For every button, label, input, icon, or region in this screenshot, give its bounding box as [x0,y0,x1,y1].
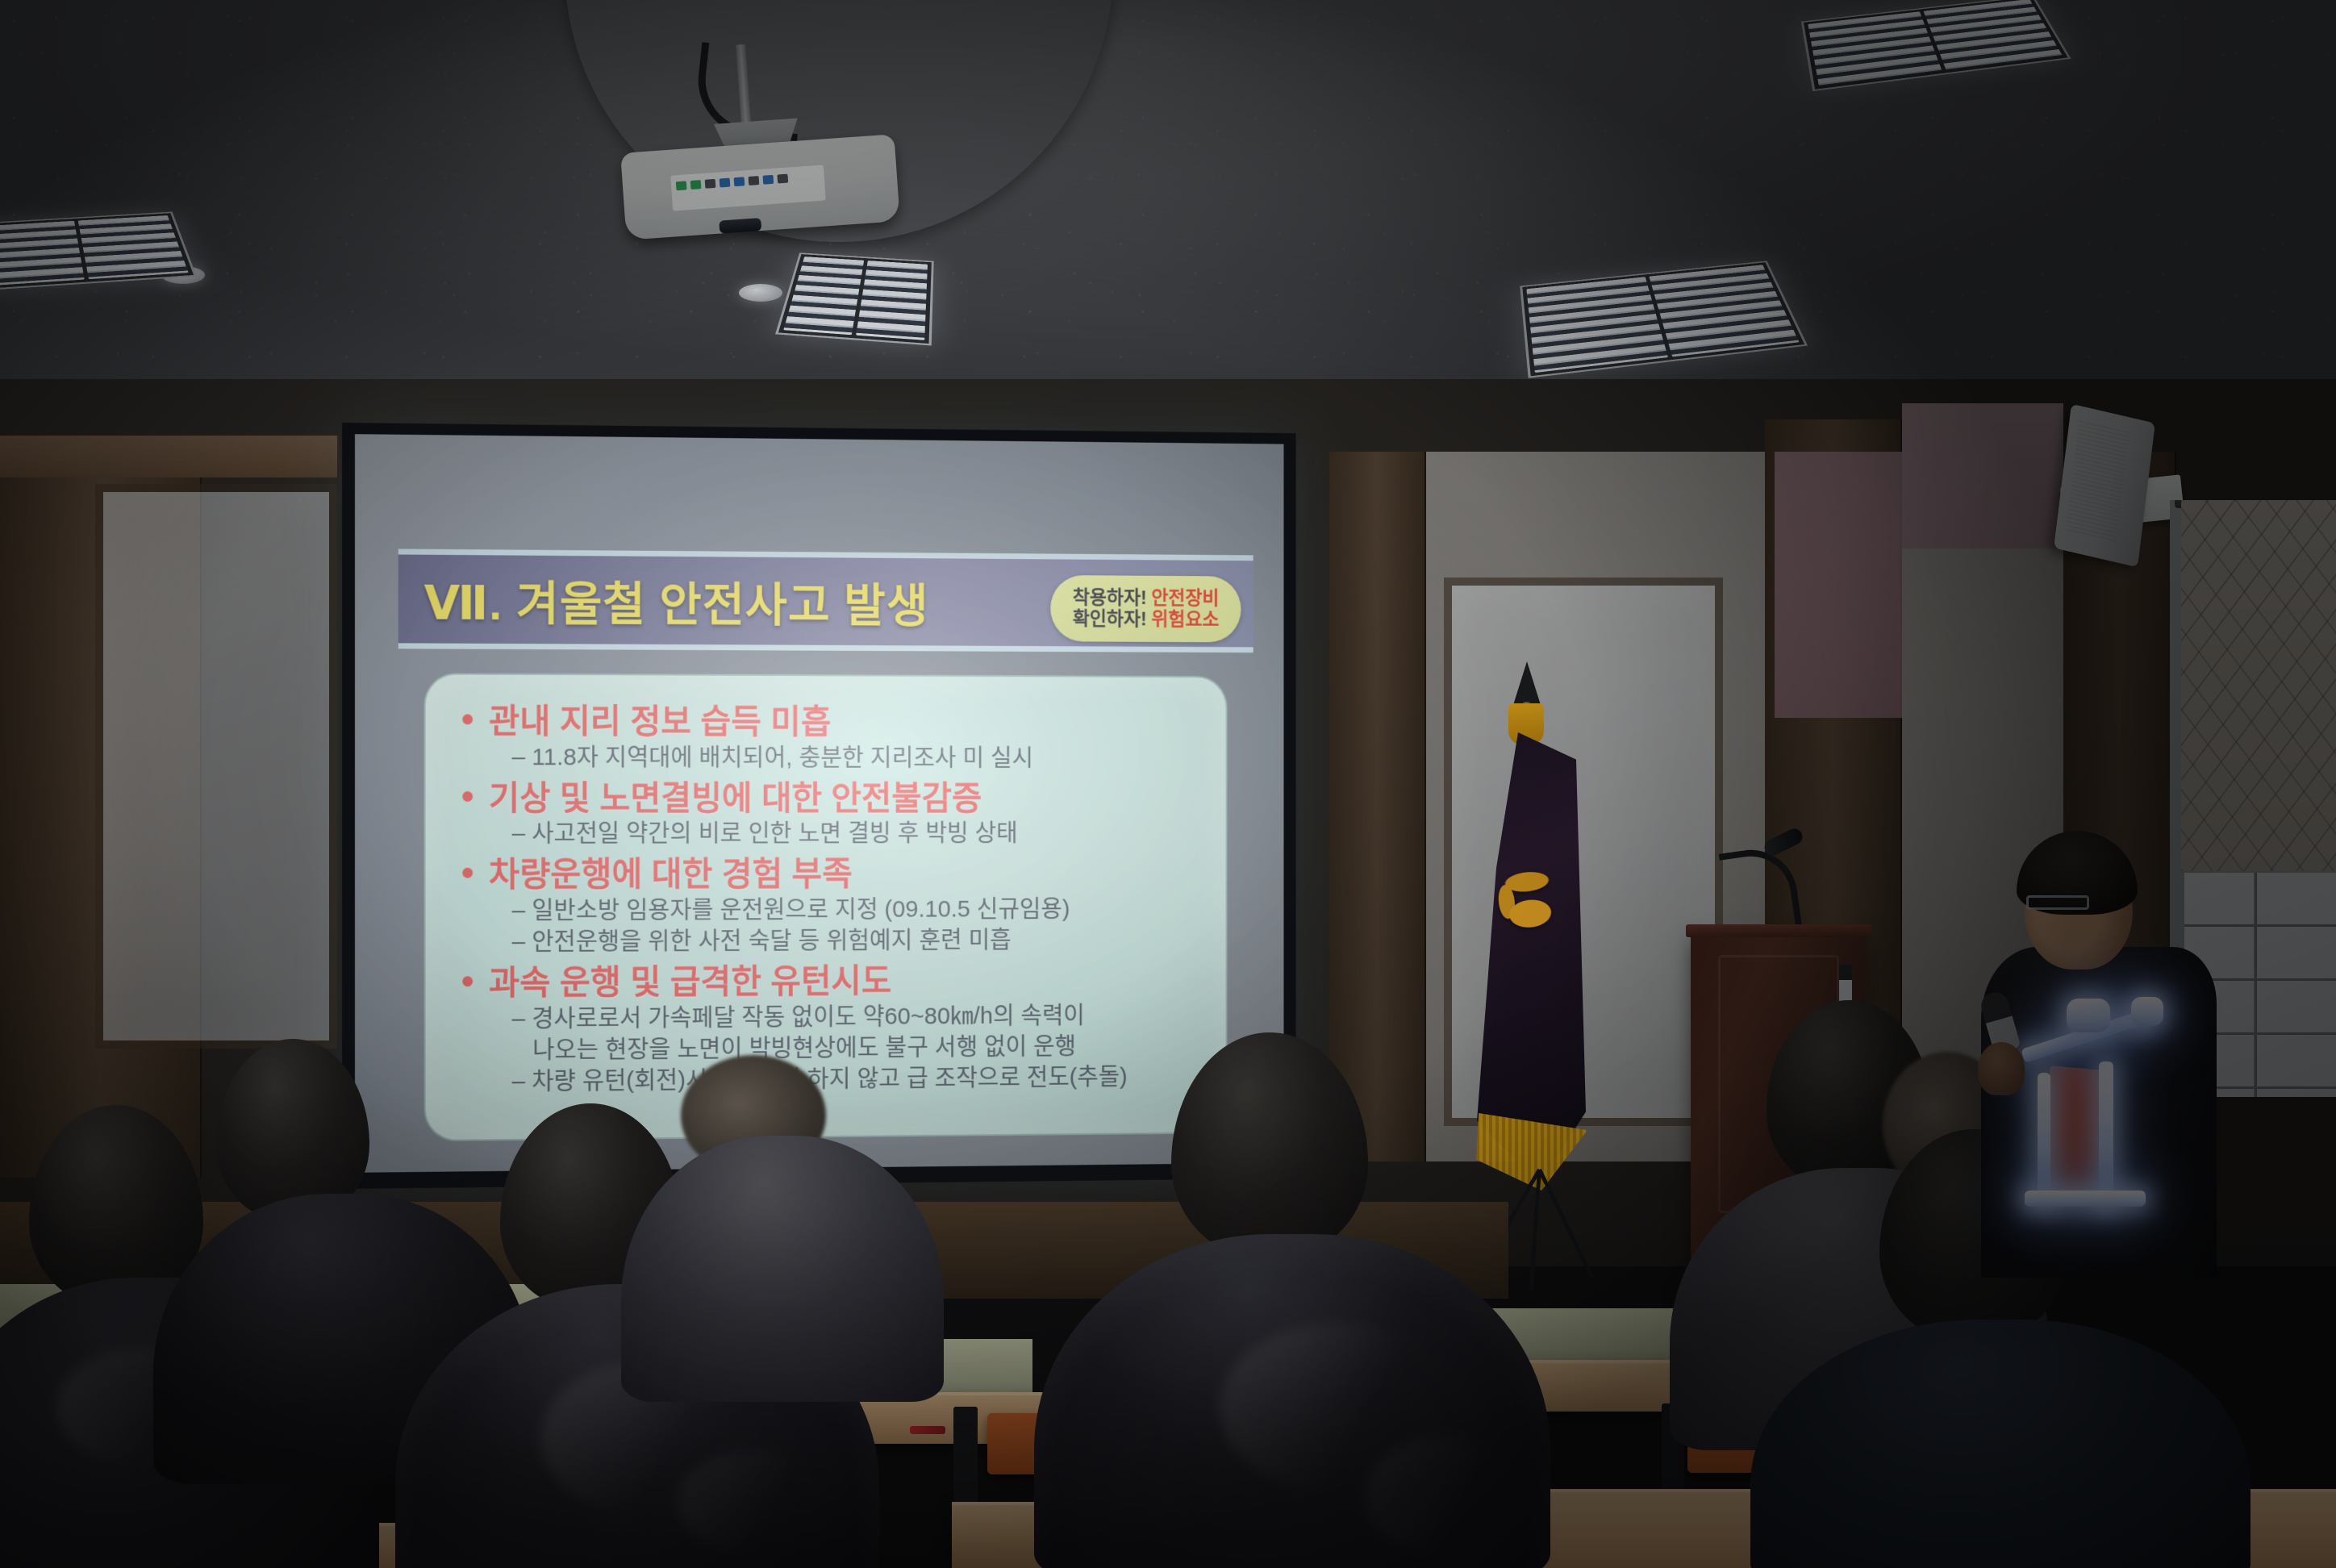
wall-accent-mauve [1775,452,1904,718]
safety-slogan-badge: 착용하자! 안전장비 확인하자! 위험요소 [1050,575,1241,642]
bullet-sub-text: – 사고전일 약간의 비로 인한 노면 결빙 후 박빙 상태 [512,818,1195,849]
bullet-dot-icon [462,976,473,986]
bullet-dot-icon [462,791,473,802]
presenter [1967,826,2233,1278]
slide-bullet: 기상 및 노면결빙에 대한 안전불감증 – 사고전일 약간의 비로 인한 노면 … [462,779,1195,849]
ceiling-mounted-projector [619,111,901,251]
audience-torso [621,1136,944,1402]
badge-line2-prefix: 확인하자! [1073,609,1147,629]
bullet-dot-icon [462,868,473,878]
badge-line1-prefix: 착용하자! [1073,588,1147,608]
reflective-stripe [2038,1073,2050,1203]
badge-line2-keyword: 위험요소 [1151,610,1219,630]
wall-accent-mauve-upper [1902,403,2063,548]
roller-blind[interactable] [2181,500,2336,871]
bullet-dot-icon [462,714,473,724]
ceiling-troffer-center [775,252,934,345]
bullet-sub-text: – 11.8자 지역대에 배치되어, 충분한 지리조사 미 실시 [512,741,1195,774]
flag-finial-icon [1513,661,1541,705]
presenter-hand [1978,1042,2025,1095]
coat-highlight [678,1450,831,1555]
reflective-patch [2131,997,2163,1026]
wall-speaker [2054,404,2155,568]
audience-head [1171,1032,1368,1258]
audience-member [613,1049,936,1412]
projector-lens [719,218,761,234]
reflective-patch [2067,999,2110,1032]
reflective-stripe [2099,1061,2113,1207]
audience-member [1018,1032,1534,1568]
badge-line1-keyword: 안전장비 [1151,588,1219,608]
bullet-sub-text: – 경사로로서 가속페달 작동 없이도 약60~80㎞/h의 속력이 [512,999,1195,1035]
reflective-stripe [2025,1191,2146,1207]
bullet-main-text: 차량운행에 대한 경험 부족 [489,856,853,895]
desk-latch-handle[interactable] [910,1426,945,1434]
slide-bullet: 관내 지리 정보 습득 미흡 – 11.8자 지역대에 배치되어, 충분한 지리… [462,702,1195,773]
glasses-icon [2026,895,2089,910]
lecture-hall-scene: Ⅶ. 겨울철 안전사고 발생 착용하자! 안전장비 확인하자! 위험요소 [0,0,2336,1568]
audience-torso [1750,1320,2250,1568]
downlight-icon [739,284,782,302]
flag-eagle-emblem-icon [1489,850,1567,945]
wall-display-panel-left [95,484,337,1049]
bullet-sub-text: – 안전운행을 위한 사전 숙달 등 위험예지 훈련 미흡 [512,924,1195,957]
wall-trim-left [0,436,339,477]
slide-title: Ⅶ. 겨울철 안전사고 발생 [424,565,929,636]
lectern-top [1686,924,1871,937]
bullet-sub-text: – 일반소방 임용자를 운전원으로 지정 (09.10.5 신규임용) [512,893,1195,926]
coat-highlight [1365,1436,1526,1557]
bullet-main-text: 관내 지리 정보 습득 미흡 [489,703,831,742]
seat-frame [953,1407,978,1502]
slide-title-bar: Ⅶ. 겨울철 안전사고 발생 착용하자! 안전장비 확인하자! 위험요소 [398,549,1254,653]
bullet-main-text: 과속 운행 및 급격한 유턴시도 [489,962,891,1003]
bullet-main-text: 기상 및 노면결빙에 대한 안전불감증 [489,779,982,819]
slide-bullet: 차량운행에 대한 경험 부족 – 일반소방 임용자를 운전원으로 지정 (09.… [462,855,1195,958]
